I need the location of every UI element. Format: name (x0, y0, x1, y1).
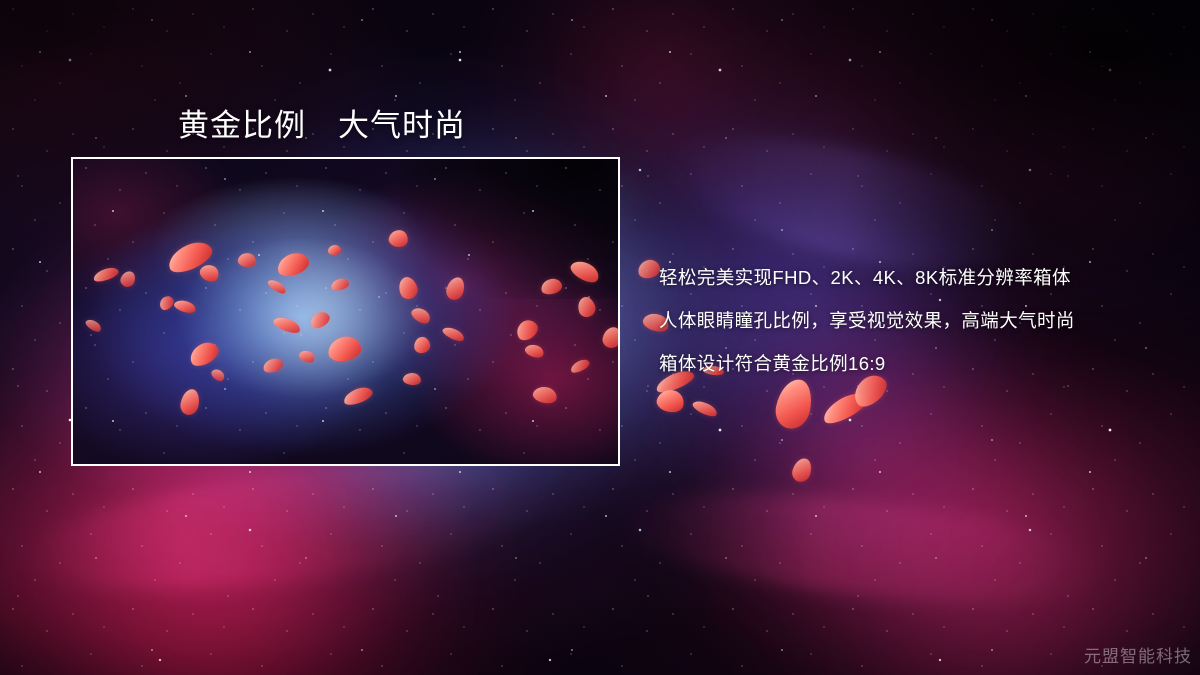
body-line: 箱体设计符合黄金比例16:9 (659, 342, 1159, 385)
body-text-block: 轻松完美实现FHD、2K、4K、8K标准分辨率箱体 人体眼睛瞳孔比例，享受视觉效… (659, 256, 1159, 385)
page-title: 黄金比例 大气时尚 (178, 100, 466, 145)
body-line: 人体眼睛瞳孔比例，享受视觉效果，高端大气时尚 (659, 299, 1159, 342)
flower-petal (328, 245, 341, 255)
photo-starfield-medium (73, 159, 618, 464)
presentation-slide: 黄金比例 大气时尚 轻松完美实现FHD、2K、4K、8K标准分辨率箱体 人体眼睛… (0, 0, 1200, 675)
body-line: 轻松完美实现FHD、2K、4K、8K标准分辨率箱体 (659, 256, 1159, 299)
watermark-brand: 元盟智能科技 (1084, 642, 1192, 667)
framed-product-image (71, 157, 620, 466)
photo-inner-content (73, 159, 618, 464)
